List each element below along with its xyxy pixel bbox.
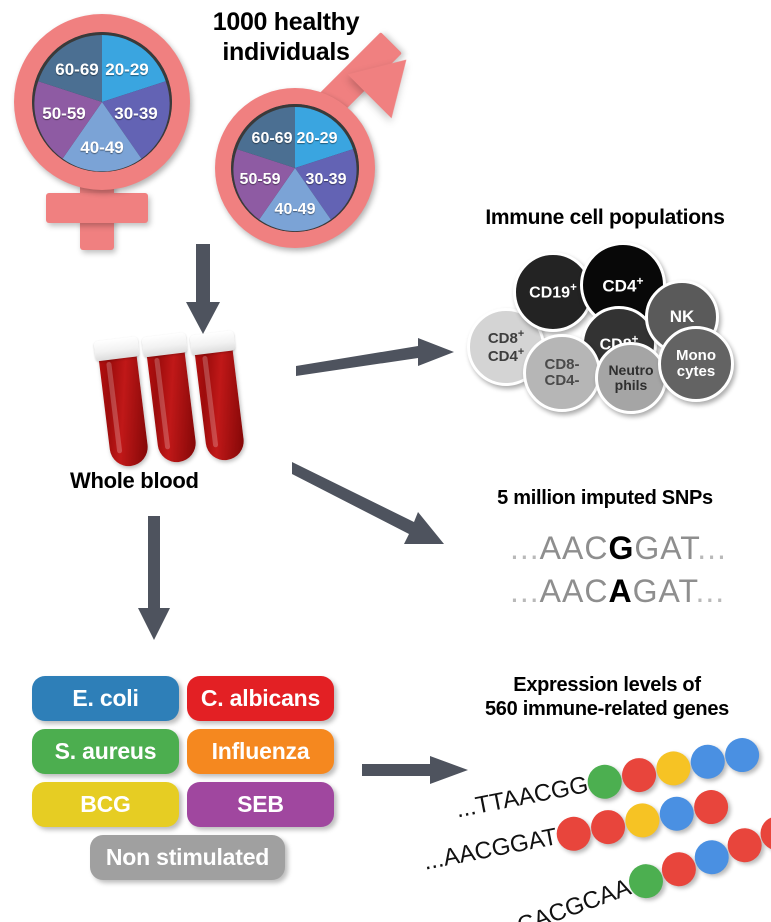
bead-strand-1: ...TTAACGG bbox=[585, 734, 768, 802]
section-title-snp: 5 million imputed SNPs bbox=[455, 487, 755, 511]
section-title-expression: Expression levels of 560 immune-related … bbox=[452, 674, 762, 721]
immune-cell-label: CD8+CD4+ bbox=[488, 329, 524, 364]
snp-variant-allele: G bbox=[608, 530, 634, 566]
immune-cell-label: CD19+ bbox=[529, 283, 577, 302]
stimulus-label: SEB bbox=[237, 791, 284, 818]
snp-left-flank: AAC bbox=[540, 530, 609, 566]
bead-strands-group: ...TTAACGG ...AACGGAT ...CACGCAA bbox=[460, 730, 771, 910]
immune-cell-label: NK bbox=[670, 308, 695, 326]
stimulus-bcg[interactable]: BCG bbox=[32, 782, 179, 827]
arrow-stimuli-to-expression bbox=[362, 752, 472, 788]
stimulus-label: Non stimulated bbox=[106, 844, 269, 871]
male-symbol: 20-29 30-39 40-49 50-59 60-69 bbox=[205, 58, 435, 253]
female-symbol-crossbar bbox=[46, 193, 148, 223]
snp-right-flank: GAT bbox=[634, 530, 697, 566]
male-age-pie: 20-29 30-39 40-49 50-59 60-69 bbox=[231, 104, 359, 232]
bead bbox=[691, 787, 731, 827]
bead bbox=[585, 762, 625, 802]
stimulus-label: C. albicans bbox=[201, 685, 320, 712]
immune-cell-label: CD4+ bbox=[602, 275, 643, 295]
stimulus-label: BCG bbox=[80, 791, 131, 818]
bead bbox=[688, 742, 728, 782]
stimulus-label: S. aureus bbox=[55, 738, 157, 765]
arrow-cohort-to-blood bbox=[178, 244, 228, 336]
bead bbox=[622, 800, 662, 840]
snp-left-flank: AAC bbox=[540, 573, 609, 609]
strand-sequence-2: ...AACGGAT bbox=[421, 823, 559, 876]
immune-cell-label: Neutrophils bbox=[608, 363, 653, 392]
blood-tube bbox=[97, 337, 150, 469]
snp-prefix: ... bbox=[510, 573, 540, 609]
immune-cell-cluster: CD8+CD4+ CD19+ CD4+ CD8+ NK CD8-CD4- Neu… bbox=[455, 238, 755, 418]
bead bbox=[657, 794, 697, 834]
bead bbox=[588, 807, 628, 847]
bead bbox=[653, 748, 693, 788]
snp-sequence-row-1: ...AACGGAT... bbox=[510, 530, 727, 567]
arrow-blood-to-immune bbox=[296, 328, 456, 378]
snp-suffix: ... bbox=[695, 573, 725, 609]
arrow-blood-to-stimuli bbox=[130, 516, 180, 641]
snp-sequence-row-2: ...AACAGAT... bbox=[510, 573, 725, 610]
immune-cell-neutrophils: Neutrophils bbox=[595, 342, 667, 414]
female-symbol: 20-29 30-39 40-49 50-59 60-69 bbox=[8, 10, 198, 250]
stimulus-seb[interactable]: SEB bbox=[187, 782, 334, 827]
blood-tube bbox=[145, 333, 198, 465]
immune-cell-label: Monocytes bbox=[676, 348, 716, 379]
stimulus-non-stimulated[interactable]: Non stimulated bbox=[90, 835, 285, 880]
immune-cell-cd8neg-cd4neg: CD8-CD4- bbox=[523, 334, 601, 412]
snp-prefix: ... bbox=[510, 530, 540, 566]
whole-blood-tubes bbox=[100, 332, 315, 472]
expression-title-line-2: 560 immune-related genes bbox=[452, 698, 762, 722]
female-age-pie: 20-29 30-39 40-49 50-59 60-69 bbox=[32, 32, 172, 172]
stimulus-label: E. coli bbox=[72, 685, 138, 712]
stimulus-influenza[interactable]: Influenza bbox=[187, 729, 334, 774]
blood-tube bbox=[193, 331, 246, 463]
snp-suffix: ... bbox=[697, 530, 727, 566]
snp-variant-allele: A bbox=[608, 573, 632, 609]
bead bbox=[554, 814, 594, 854]
stimulus-c-albicans[interactable]: C. albicans bbox=[187, 676, 334, 721]
snp-right-flank: GAT bbox=[633, 573, 696, 609]
arrow-blood-to-snp bbox=[292, 460, 457, 555]
label-whole-blood: Whole blood bbox=[70, 468, 270, 494]
strand-sequence-3: ...CACGCAA bbox=[495, 874, 635, 922]
section-title-immune: Immune cell populations bbox=[455, 206, 755, 231]
expression-title-line-1: Expression levels of bbox=[452, 674, 762, 698]
bead bbox=[722, 735, 762, 775]
stimulus-s-aureus[interactable]: S. aureus bbox=[32, 729, 179, 774]
immune-cell-monocytes: Monocytes bbox=[658, 326, 734, 402]
immune-cell-label: CD8-CD4- bbox=[544, 357, 579, 388]
figure-canvas: 20-29 30-39 40-49 50-59 60-69 1000 healt… bbox=[0, 0, 771, 922]
bead bbox=[619, 755, 659, 795]
stimulus-e-coli[interactable]: E. coli bbox=[32, 676, 179, 721]
stimuli-panel: E. coli C. albicans S. aureus Influenza … bbox=[32, 676, 342, 896]
stimulus-label: Influenza bbox=[212, 738, 310, 765]
